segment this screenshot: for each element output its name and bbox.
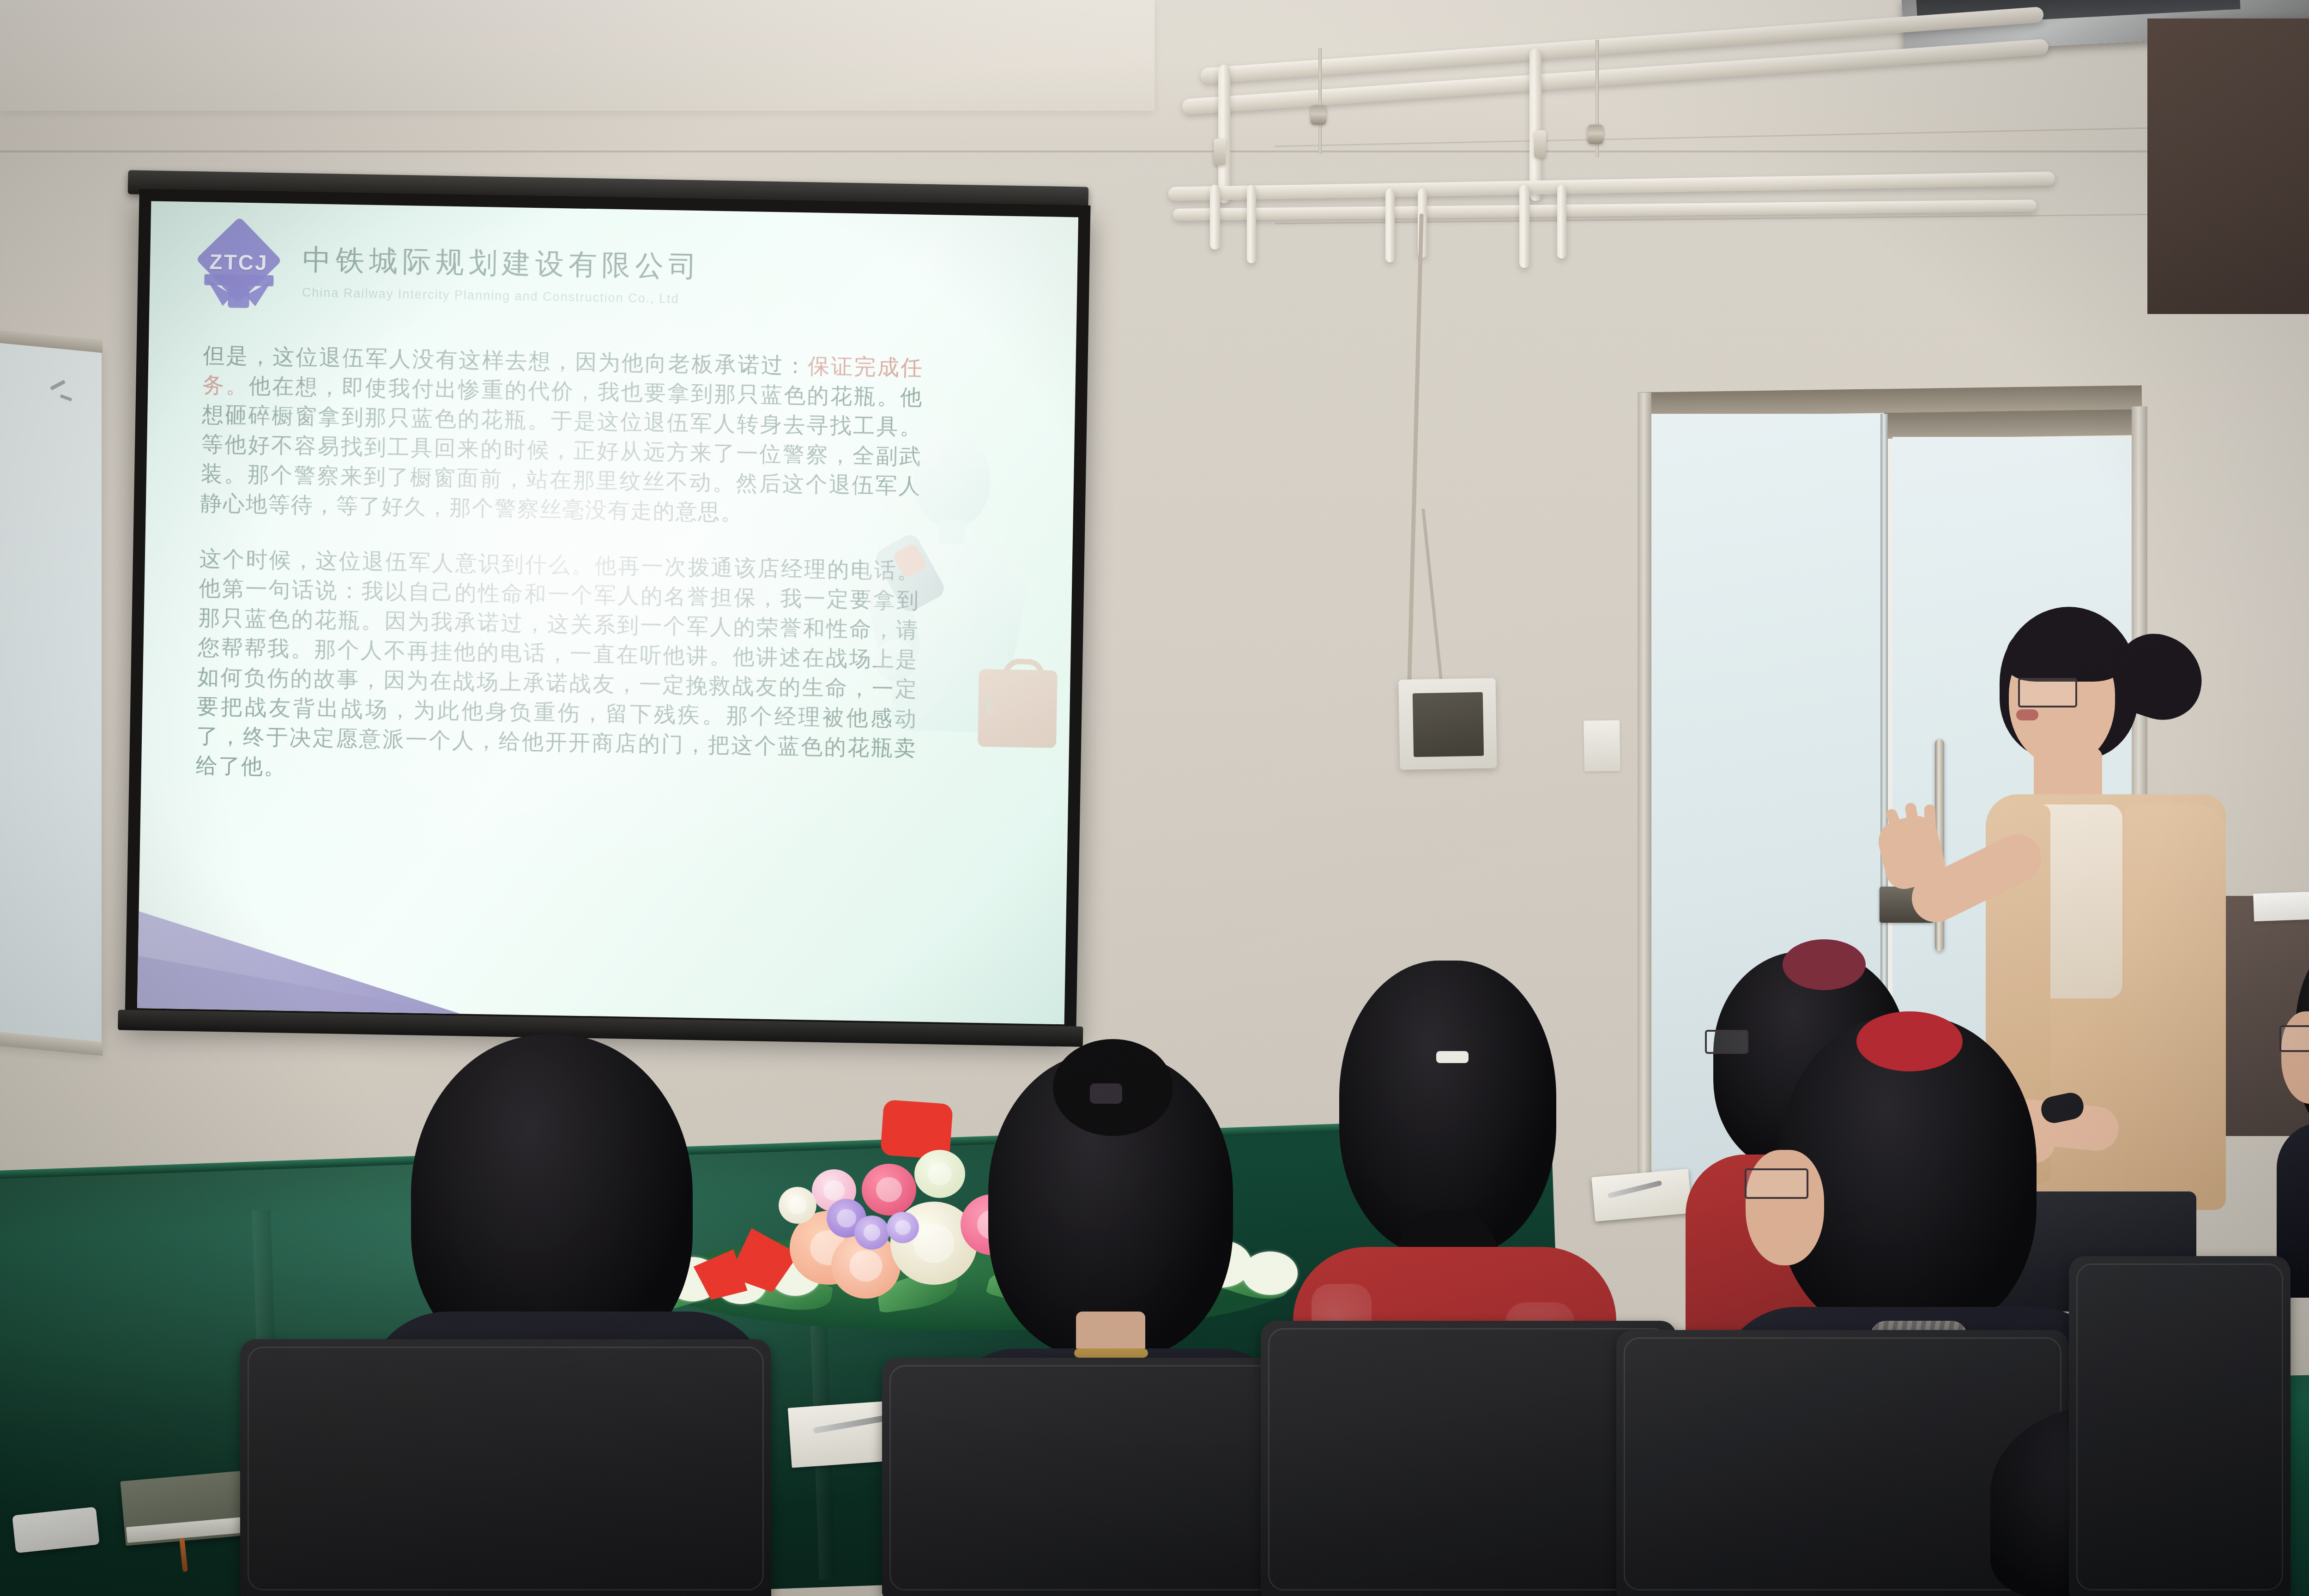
slide-header: ZTCJ 中铁城际规划建设有限公司 China Railway Intercit…	[204, 229, 702, 316]
chair-5[interactable]	[2069, 1256, 2291, 1596]
projection-screen-assembly: ZTCJ 中铁城际规划建设有限公司 China Railway Intercit…	[98, 170, 1287, 1109]
pipe-bend-c	[1385, 188, 1395, 262]
company-logo-icon: ZTCJ	[204, 229, 274, 308]
slide-body: 但是，这位退伍军人没有这样去想，因为他向老板承诺过：保证完成任务。他在想，即使我…	[195, 340, 924, 818]
whiteboard[interactable]	[0, 336, 102, 1054]
audience-3-hairpin	[1436, 1051, 1469, 1063]
ceiling-soffit	[0, 0, 1154, 111]
ceiling-pipe-drop-mid	[1529, 48, 1541, 201]
paragraph-1-seg-1: 但是，这位退伍军人没有这样去想，因为他向老板承诺过：	[203, 342, 808, 378]
pipe-bend-f	[1557, 185, 1566, 259]
light-switch-plate[interactable]	[1584, 720, 1620, 771]
slide-paragraph-1: 但是，这位退伍军人没有这样去想，因为他向老板承诺过：保证完成任务。他在想，即使我…	[200, 340, 923, 530]
cabinet-top-sign	[2253, 889, 2309, 921]
audience-2-necklace	[1074, 1348, 1148, 1358]
paragraph-1-seg-3: 他在想，即使我付出惨重的代价，我也要拿到那只蓝色的花瓶。他想砸碎橱窗拿到那只蓝色…	[200, 373, 923, 525]
pipe-collar-2	[1214, 139, 1226, 165]
logo-text: ZTCJ	[208, 249, 270, 275]
slide-3d-figure-icon	[839, 430, 1062, 753]
pipe-bend-e	[1519, 185, 1529, 268]
presenter-mouth	[2016, 709, 2038, 720]
screen-border: ZTCJ 中铁城际规划建设有限公司 China Railway Intercit…	[125, 189, 1090, 1037]
presenter-glasses	[2018, 678, 2077, 707]
pipe-clamp-1	[1311, 105, 1326, 125]
audience-2-hair-clip	[1090, 1083, 1122, 1104]
ceiling-edge-line	[0, 151, 2309, 152]
wall-ac-grille	[1413, 692, 1484, 757]
audience-6-glasses	[2279, 1025, 2309, 1052]
door-header-beam-2	[1884, 409, 2143, 439]
company-name-block: 中铁城际规划建设有限公司 China Railway Intercity Pla…	[302, 240, 702, 307]
pipe-clamp-2	[1588, 125, 1603, 144]
slide-paragraph-2: 这个时候，这位退伍军人意识到什么。他再一次拨通该店经理的电话。他第一句话说：我以…	[196, 544, 920, 792]
pipe-hanger-1	[1318, 48, 1322, 154]
right-wall-dark-panel	[2147, 18, 2309, 314]
presentation-slide: ZTCJ 中铁城际规划建设有限公司 China Railway Intercit…	[137, 201, 1078, 1024]
ceiling-pipe-drop-left	[1218, 65, 1230, 203]
audience-5-face	[1746, 1150, 1824, 1265]
company-name-cn: 中铁城际规划建设有限公司	[302, 240, 702, 286]
conference-room-photo: ZTCJ 中铁城际规划建设有限公司 China Railway Intercit…	[0, 0, 2309, 1596]
audience-5-red-scrunchie	[1856, 1011, 1963, 1071]
audience-4-hair-accessory	[1783, 939, 1866, 990]
company-name-en: China Railway Intercity Planning and Con…	[302, 285, 701, 307]
chair-1[interactable]	[240, 1339, 771, 1596]
door-jamb-left	[1638, 393, 1651, 1205]
pipe-collar-1	[1534, 130, 1546, 158]
audience-member-6	[2277, 942, 2309, 1293]
chair-3[interactable]	[1261, 1321, 1676, 1596]
audience-5-glasses	[1745, 1168, 1808, 1199]
paragraph-2-seg-1: 这个时候，这位退伍军人意识到什么。他再一次拨通该店经理的电话。他第一句话说：我以…	[196, 545, 920, 779]
presenter-lapel-right	[2124, 804, 2226, 1197]
presenter-hair-front	[2007, 622, 2122, 682]
